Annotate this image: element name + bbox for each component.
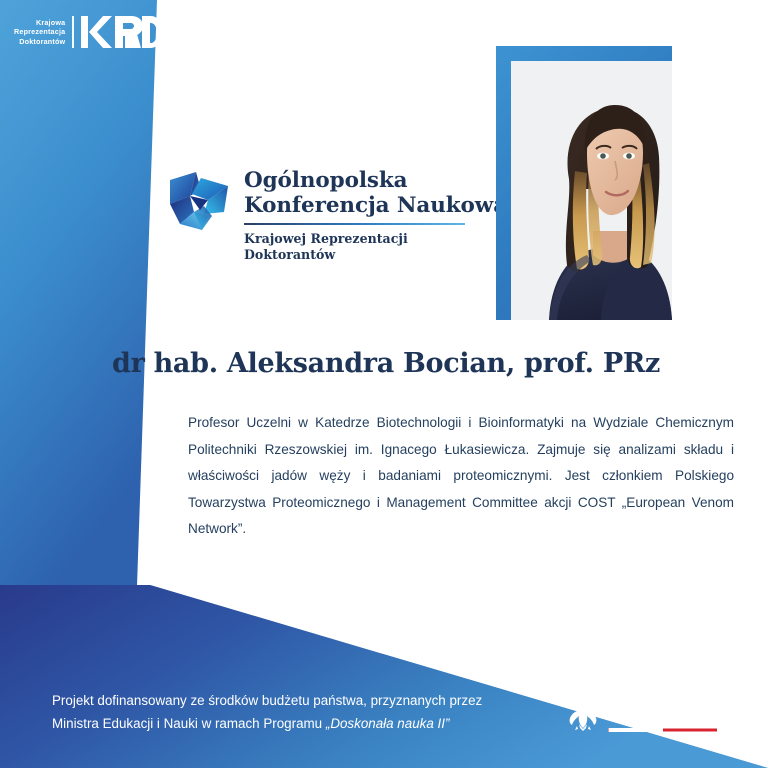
left-accent-band xyxy=(0,0,157,586)
conference-logo: Ogólnopolska Konferencja Naukowa Krajowe… xyxy=(168,166,507,263)
ministry-flag-bar xyxy=(608,728,718,732)
funding-statement-line-2-prefix: Ministra Edukacji i Nauki w ramach Progr… xyxy=(52,716,326,731)
ministry-line-1: Ministerstwo xyxy=(608,694,718,709)
ministry-logo: Ministerstwo Edukacji i Nauki xyxy=(566,694,718,732)
krd-acronym-icon xyxy=(81,14,163,50)
speaker-portrait-photo xyxy=(511,61,672,320)
funding-statement-line-2: Ministra Edukacji i Nauki w ramach Progr… xyxy=(52,712,552,735)
speaker-bio: Profesor Uczelni w Katedrze Biotechnolog… xyxy=(188,410,734,543)
krd-logo-wordmark: Krajowa Reprezentacja Doktorantów xyxy=(14,18,65,47)
ministry-wordmark: Ministerstwo Edukacji i Nauki xyxy=(608,694,718,732)
funding-statement-line-1: Projekt dofinansowany ze środków budżetu… xyxy=(52,689,552,712)
conference-title-line-2: Konferencja Naukowa xyxy=(244,193,507,218)
speaker-name: dr hab. Aleksandra Bocian, prof. PRz xyxy=(44,348,728,379)
conference-logo-text: Ogólnopolska Konferencja Naukowa Krajowe… xyxy=(244,166,507,263)
conference-title-line-1: Ogólnopolska xyxy=(244,168,507,193)
speaker-portrait-frame xyxy=(496,46,672,320)
conference-subtitle-line-1: Krajowej Reprezentacji xyxy=(244,231,507,247)
krd-logo-divider xyxy=(72,16,74,48)
krd-logo: Krajowa Reprezentacja Doktorantów xyxy=(14,14,163,50)
conference-subtitle-line-2: Doktorantów xyxy=(244,247,507,263)
conference-logo-rule xyxy=(244,223,465,225)
krd-logo-line-1: Krajowa xyxy=(14,18,65,28)
krd-logo-line-3: Doktorantów xyxy=(14,37,65,47)
programme-name: „Doskonała nauka II” xyxy=(326,716,450,731)
funding-statement: Projekt dofinansowany ze środków budżetu… xyxy=(52,689,552,735)
conference-pentagon-icon xyxy=(168,170,230,232)
polish-eagle-emblem-icon xyxy=(566,694,600,732)
poster-canvas: Krajowa Reprezentacja Doktorantów xyxy=(0,0,768,768)
krd-logo-line-2: Reprezentacja xyxy=(14,27,65,37)
ministry-line-2: Edukacji i Nauki xyxy=(608,709,718,724)
